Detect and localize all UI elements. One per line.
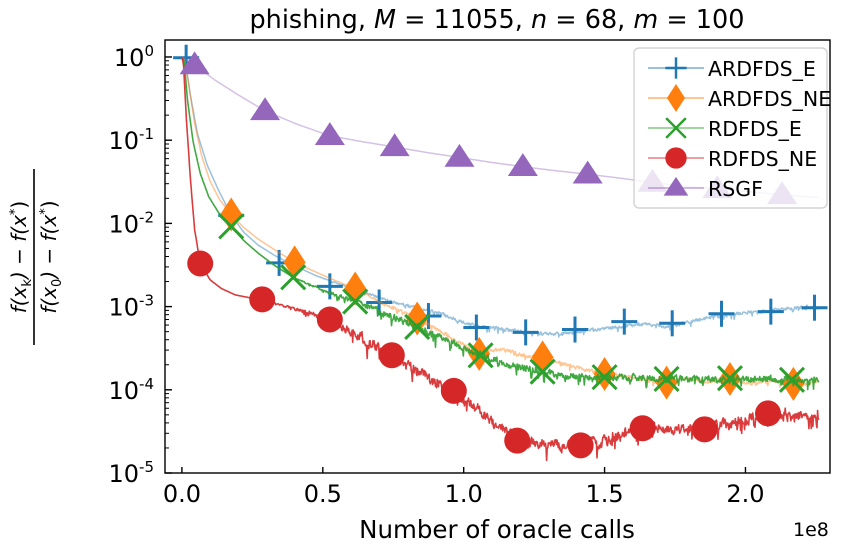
x-tick-label: 2.0 [726, 480, 764, 508]
x-axis-label: Number of oracle calls [359, 515, 635, 544]
legend-label-rdfds_ne[interactable]: RDFDS_NE [708, 147, 817, 172]
series-marker-rdfds_ne [379, 342, 405, 368]
legend-label-ardfds_ne[interactable]: ARDFDS_NE [708, 87, 831, 112]
series-marker-rdfds_ne [187, 250, 213, 276]
legend-label-ardfds_e[interactable]: ARDFDS_E [708, 57, 816, 82]
x-tick-label: 1.0 [445, 480, 483, 508]
series-marker-rdfds_ne [692, 416, 718, 442]
series-marker-rdfds_ne [755, 400, 781, 426]
series-marker-rdfds_ne [249, 286, 275, 312]
convergence-plot: phishing, M = 11055, n = 68, m = 100 100… [0, 0, 842, 551]
legend-label-rsgf[interactable]: RSGF [708, 177, 763, 201]
x-axis-exponent: 1e8 [793, 519, 829, 541]
figure-container: phishing, M = 11055, n = 68, m = 100 100… [0, 0, 842, 551]
y-label-numerator: f(xk) − f(x*) [7, 201, 35, 314]
chart-title: phishing, M = 11055, n = 68, m = 100 [250, 5, 745, 35]
legend-label-rdfds_e[interactable]: RDFDS_E [708, 117, 802, 142]
x-tick-label: 0.0 [163, 480, 201, 508]
x-tick-label: 0.5 [304, 480, 342, 508]
legend-marker-rdfds_ne[interactable] [665, 147, 686, 168]
series-marker-rdfds_ne [630, 415, 656, 441]
series-marker-rdfds_ne [568, 432, 594, 458]
x-tick-label: 1.5 [585, 480, 623, 508]
legend[interactable]: ARDFDS_EARDFDS_NERDFDS_ERDFDS_NERSGF [634, 48, 831, 208]
series-marker-rdfds_ne [441, 378, 467, 404]
series-marker-rdfds_ne [504, 428, 530, 454]
series-marker-rdfds_ne [317, 306, 343, 332]
y-label-denominator: f(x0) − f(x*) [37, 200, 65, 313]
